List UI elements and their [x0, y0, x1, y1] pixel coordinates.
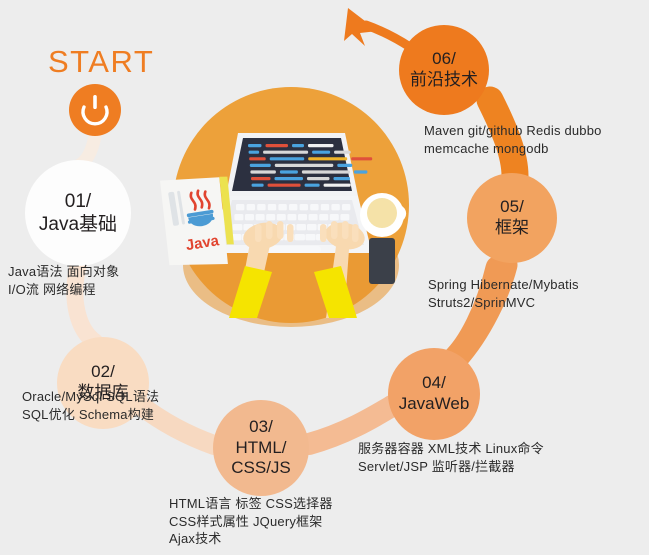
code-token	[249, 151, 260, 154]
code-token	[351, 157, 372, 160]
key	[245, 214, 254, 220]
key	[330, 214, 339, 220]
code-token	[354, 170, 368, 173]
code-token	[324, 184, 351, 187]
code-token	[275, 164, 334, 167]
key	[289, 204, 297, 210]
node-caption-04: 服务器容器 XML技术 Linux命令 Servlet/JSP 监听器/拦截器	[358, 440, 544, 475]
code-token	[248, 144, 262, 147]
code-token	[250, 170, 276, 173]
node-circle-06[interactable]	[399, 25, 489, 115]
node-caption-06: Maven git/github Redis dubbo memcache mo…	[424, 122, 602, 157]
code-token	[337, 164, 352, 167]
finger	[352, 224, 359, 242]
key	[305, 234, 315, 240]
start-label: START	[48, 44, 154, 80]
trackpad	[263, 246, 321, 253]
key	[247, 204, 255, 210]
finger	[320, 224, 327, 242]
code-token	[270, 157, 305, 160]
finger	[277, 221, 284, 239]
key	[236, 204, 244, 210]
key	[257, 204, 265, 210]
power-icon-stem	[93, 95, 97, 109]
key	[307, 224, 317, 230]
code-token	[305, 184, 320, 187]
node-caption-01: Java语法 面向对象 I/O流 网络编程	[8, 263, 119, 298]
key	[278, 204, 286, 210]
node-circle-04[interactable]	[388, 348, 480, 440]
coffee-liquid	[367, 198, 397, 228]
node-circle-03[interactable]	[213, 400, 309, 496]
code-token	[334, 151, 351, 154]
key	[309, 214, 318, 220]
key	[233, 224, 243, 230]
code-token	[308, 144, 334, 147]
key	[277, 214, 286, 220]
finger	[255, 224, 262, 242]
finger	[287, 224, 294, 242]
code-token	[263, 151, 308, 154]
key	[256, 214, 265, 220]
node-circle-05[interactable]	[467, 173, 557, 263]
start-marker[interactable]	[69, 84, 121, 136]
key	[295, 234, 305, 240]
flow-arrow	[344, 8, 410, 47]
code-token	[312, 151, 330, 154]
key	[300, 204, 308, 210]
code-token	[292, 144, 304, 147]
key	[321, 204, 329, 210]
code-token	[250, 164, 271, 167]
node-caption-05: Spring Hibernate/Mybatis Struts2/SprinMV…	[428, 276, 579, 311]
code-token	[307, 177, 330, 180]
code-token	[334, 177, 351, 180]
key	[310, 204, 318, 210]
key	[342, 204, 350, 210]
key	[298, 214, 307, 220]
key	[266, 214, 275, 220]
node-caption-03: HTML语言 标签 CSS选择器 CSS样式属性 JQuery框架 Ajax技术	[169, 495, 333, 548]
code-token	[251, 177, 271, 180]
code-token	[268, 184, 301, 187]
finger	[342, 221, 349, 239]
code-token	[252, 184, 264, 187]
smartphone	[369, 238, 395, 284]
key	[319, 214, 328, 220]
finger	[331, 221, 338, 239]
key	[296, 224, 306, 230]
finger	[266, 221, 273, 239]
code-token	[266, 144, 289, 147]
code-token	[302, 170, 350, 173]
key	[331, 204, 339, 210]
code-token	[249, 157, 266, 160]
key	[234, 214, 243, 220]
code-token	[275, 177, 304, 180]
key	[287, 214, 296, 220]
key	[340, 214, 349, 220]
start-circle[interactable]	[69, 84, 121, 136]
flow-segment-03-to-04	[309, 406, 392, 444]
code-token	[280, 170, 298, 173]
node-caption-02: Oracle/MySql SQL语法 SQL优化 Schema构建	[22, 388, 159, 423]
node-circle-01[interactable]	[25, 160, 131, 266]
key	[268, 204, 276, 210]
developer-coding-illustration: Java	[156, 87, 409, 327]
code-token	[308, 157, 347, 160]
roadmap-canvas: Java START 01/ Java基础02/ 数据库03/ HTML/ CS…	[0, 0, 649, 555]
